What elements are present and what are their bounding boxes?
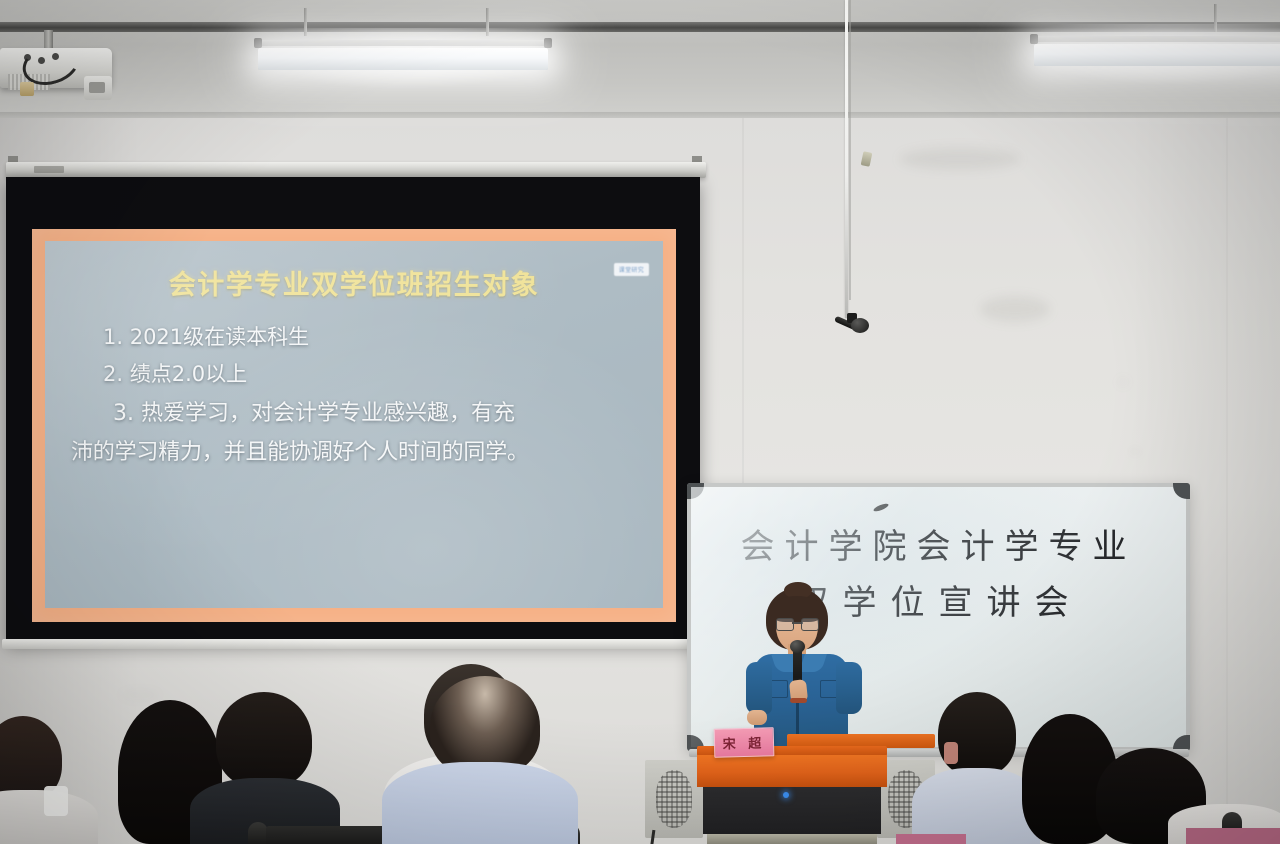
wall-spot	[120, 690, 160, 700]
podium-power-led-icon	[783, 792, 789, 798]
light-rod	[304, 8, 307, 36]
whiteboard-corner	[1173, 483, 1190, 499]
hanging-microphone-cable	[845, 0, 848, 318]
face-mask	[44, 786, 68, 816]
whiteboard-corner	[687, 483, 704, 499]
presenter-sleeve-left	[746, 662, 772, 714]
screen-brand-label	[34, 166, 64, 173]
slide-bullet-3: 3. 热爱学习，对会计学专业感兴趣，有充	[71, 394, 643, 433]
podium-speaker-left	[645, 760, 703, 838]
slide-body: 1. 2021级在读本科生 2. 绩点2.0以上 3. 热爱学习，对会计学专业感…	[71, 319, 643, 472]
name-placard-text: 宋 超	[722, 732, 765, 752]
wall-seam-right	[1226, 118, 1228, 844]
audience-shoulders	[912, 768, 1040, 844]
presentation-slide: 会计学专业双学位班招生对象 课堂研究 1. 2021级在读本科生 2. 绩点2.…	[32, 229, 676, 622]
hanging-microphone-cable-shadow	[849, 0, 851, 300]
audience-shoulders	[382, 762, 578, 844]
fluorescent-light-right	[1034, 30, 1280, 70]
audience-head	[216, 692, 312, 788]
fluorescent-light-left	[258, 34, 548, 74]
projection-screen: 会计学专业双学位班招生对象 课堂研究 1. 2021级在读本科生 2. 绩点2.…	[6, 177, 700, 642]
wall-spot	[1128, 448, 1142, 455]
slide-content-area: 会计学专业双学位班招生对象 课堂研究 1. 2021级在读本科生 2. 绩点2.…	[45, 241, 663, 608]
microphone-capsule-icon	[851, 318, 869, 333]
light-bar	[1034, 36, 1280, 42]
pink-paper	[1186, 828, 1280, 844]
light-cap	[1030, 34, 1038, 44]
projector[interactable]	[0, 30, 128, 90]
light-bar	[258, 40, 548, 46]
glasses-lens-left	[776, 618, 794, 631]
light-rod	[486, 8, 489, 36]
podium[interactable]	[645, 746, 935, 844]
slide-bullet-1: 1. 2021级在读本科生	[71, 319, 643, 356]
audience-head-balding	[430, 676, 540, 776]
light-tube	[1034, 44, 1280, 66]
presenter-bracelet	[790, 698, 807, 703]
hanging-microphone[interactable]	[833, 318, 871, 340]
projection-screen-housing[interactable]	[6, 162, 706, 178]
speaker-grill-icon	[656, 770, 692, 828]
glasses-lens-right	[801, 618, 819, 631]
slide-bullet-2: 2. 绩点2.0以上	[71, 356, 643, 393]
light-rod	[1214, 4, 1217, 32]
light-cap	[254, 38, 262, 48]
glasses-icon	[776, 618, 819, 629]
slide-bullet-3-cont: 沛的学习精力，并且能协调好个人时间的同学。	[71, 433, 643, 472]
presenter-hand-left	[747, 710, 767, 725]
projector-plug	[20, 82, 34, 96]
presenter-sleeve-right	[836, 662, 862, 714]
light-cap	[544, 38, 552, 48]
wall-spot	[1118, 378, 1128, 386]
podium-base	[707, 834, 877, 844]
face-mask	[944, 742, 958, 764]
slide-badge: 课堂研究	[614, 263, 649, 276]
slide-title: 会计学专业双学位班招生对象	[45, 263, 663, 302]
podium-control-panel[interactable]	[703, 787, 881, 834]
wall-smudge	[980, 296, 1050, 322]
wall-smudge	[900, 148, 1020, 170]
whiteboard-text-line-1: 会计学院会计学专业	[691, 519, 1186, 568]
light-tube	[258, 48, 548, 70]
projector-lens-icon	[84, 76, 112, 100]
podium-front-panel	[697, 755, 887, 787]
classroom-scene: 会计学专业双学位班招生对象 课堂研究 1. 2021级在读本科生 2. 绩点2.…	[0, 0, 1280, 844]
chair-armrest-knob	[248, 822, 268, 844]
presenter	[744, 588, 864, 748]
projection-screen-bottom-bar	[2, 639, 706, 649]
whiteboard-stray-mark	[873, 502, 890, 513]
name-placard: 宋 超	[714, 727, 775, 758]
microphone-head-icon	[790, 640, 805, 653]
pink-paper	[896, 834, 966, 844]
